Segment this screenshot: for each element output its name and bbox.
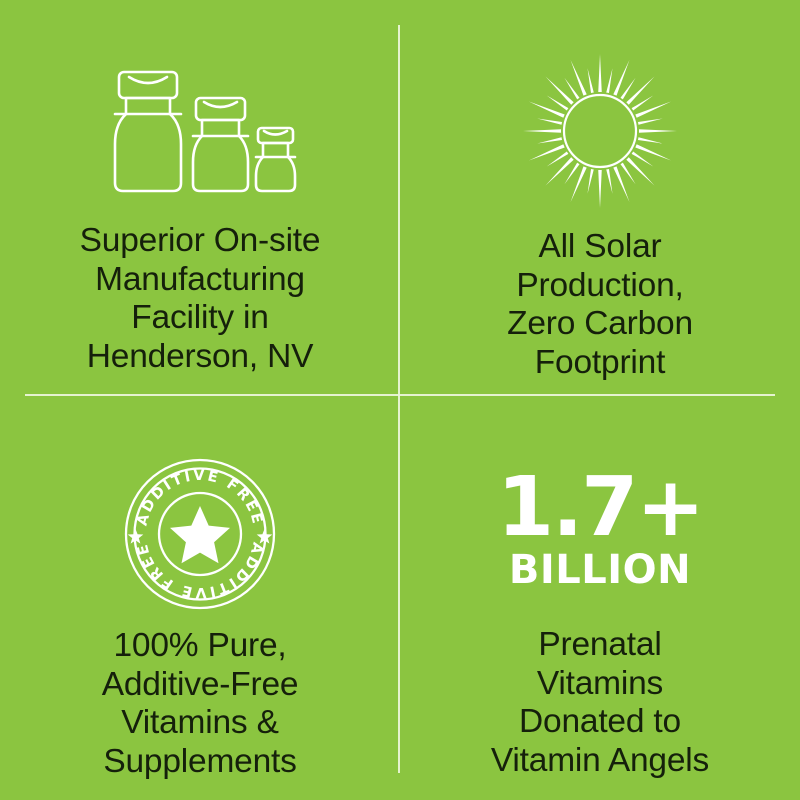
badge-center-star-icon [170,506,230,563]
stat-number: 1.7+ [497,469,703,547]
feature-caption-donations: Prenatal Vitamins Donated to Vitamin Ang… [491,626,709,780]
feature-cell-solar: All Solar Production, Zero Carbon Footpr… [400,0,800,400]
feature-cell-donations: 1.7+ BILLION Prenatal Vitamins Donated t… [400,400,800,800]
feature-caption-manufacturing: Superior On-site Manufacturing Facility … [80,222,321,376]
feature-caption-additive-free: 100% Pure, Additive-Free Vitamins & Supp… [102,627,299,781]
benefits-panel: Superior On-site Manufacturing Facility … [0,0,800,800]
feature-cell-manufacturing: Superior On-site Manufacturing Facility … [0,0,400,400]
feature-caption-solar: All Solar Production, Zero Carbon Footpr… [507,228,693,382]
benefits-grid: Superior On-site Manufacturing Facility … [0,0,800,800]
stat-number-icon: 1.7+ BILLION [497,460,703,600]
supplement-bottles-icon [100,58,300,208]
additive-free-badge-icon: ADDITIVE FREE ADDITIVE FREE [124,456,276,611]
stat-block: 1.7+ BILLION [497,460,703,600]
feature-cell-additive-free: ADDITIVE FREE ADDITIVE FREE 100% Pure, A… [0,400,400,800]
sun-icon [520,52,680,210]
stat-unit: BILLION [509,549,691,591]
